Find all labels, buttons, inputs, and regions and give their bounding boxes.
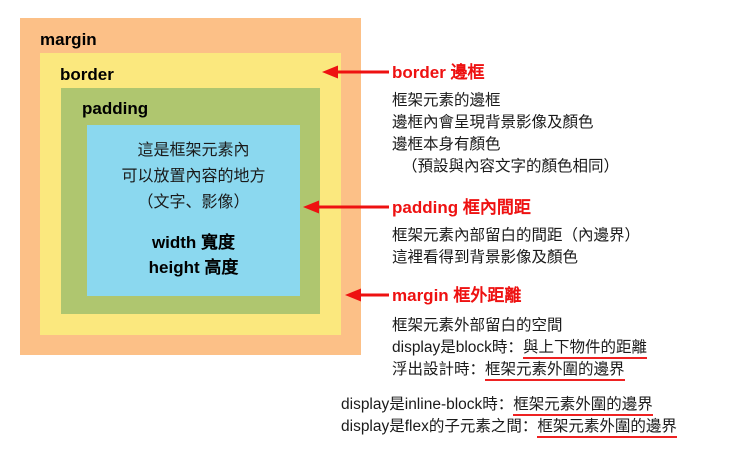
content-width-label: width 寬度 [152,230,235,255]
padding-annotation-heading: padding 框內間距 [392,199,531,216]
margin-rule-value: 框架元素外圍的邊界 [537,418,677,438]
content-text-line: 可以放置內容的地方 [121,164,265,190]
arrow-to-padding-icon [299,197,393,217]
border-annotation-heading: border 邊框 [392,64,485,81]
margin-annotation-rule: display是inline-block時：框架元素外圍的邊界 [341,394,677,416]
margin-rule-prefix: display是flex的子元素之間： [341,418,537,435]
margin-rule-prefix: 浮出設計時： [392,361,485,378]
margin-rule-value: 與上下物件的距離 [523,339,647,359]
padding-annotation-body: 框架元素內部留白的間距（內邊界） 這裡看得到背景影像及顏色 [392,225,640,269]
margin-annotation-line: 框架元素外部留白的空間 [392,315,647,337]
content-box: 這是框架元素內 可以放置內容的地方 （文字、影像） width 寬度 heigh… [87,125,300,296]
margin-annotation-rule: 浮出設計時：框架元素外圍的邊界 [392,359,647,381]
border-box: border padding 這是框架元素內 可以放置內容的地方 （文字、影像）… [40,53,341,335]
margin-annotation-rule: display是flex的子元素之間：框架元素外圍的邊界 [341,416,677,438]
margin-annotation-rule: display是block時：與上下物件的距離 [392,337,647,359]
arrow-to-border-icon [318,62,393,82]
margin-annotation-body: 框架元素外部留白的空間 display是block時：與上下物件的距離 浮出設計… [392,315,647,381]
margin-box-label: margin [40,31,97,48]
margin-annotation-extra: display是inline-block時：框架元素外圍的邊界 display是… [341,394,677,438]
margin-rule-prefix: display是inline-block時： [341,396,513,413]
border-box-label: border [60,66,114,83]
margin-annotation-heading: margin 框外距離 [392,287,521,304]
box-model-diagram: margin border padding 這是框架元素內 可以放置內容的地方 … [20,18,361,355]
padding-box-label: padding [82,100,148,117]
padding-annotation-line: 這裡看得到背景影像及顏色 [392,247,640,269]
border-annotation-line: 邊框本身有顏色 [392,134,619,156]
margin-rule-value: 框架元素外圍的邊界 [485,361,625,381]
content-height-label: height 高度 [149,255,239,280]
content-text-line: （文字、影像） [137,190,249,216]
padding-annotation-line: 框架元素內部留白的間距（內邊界） [392,225,640,247]
border-annotation-body: 框架元素的邊框 邊框內會呈現背景影像及顏色 邊框本身有顏色 （預設與內容文字的顏… [392,90,619,178]
margin-rule-prefix: display是block時： [392,339,523,356]
border-annotation-line: 框架元素的邊框 [392,90,619,112]
margin-rule-value: 框架元素外圍的邊界 [513,396,653,416]
padding-box: padding 這是框架元素內 可以放置內容的地方 （文字、影像） width … [61,88,320,314]
border-annotation-line: （預設與內容文字的顏色相同） [392,156,619,178]
content-text-line: 這是框架元素內 [137,138,249,164]
border-annotation-line: 邊框內會呈現背景影像及顏色 [392,112,619,134]
arrow-to-margin-icon [341,285,393,305]
